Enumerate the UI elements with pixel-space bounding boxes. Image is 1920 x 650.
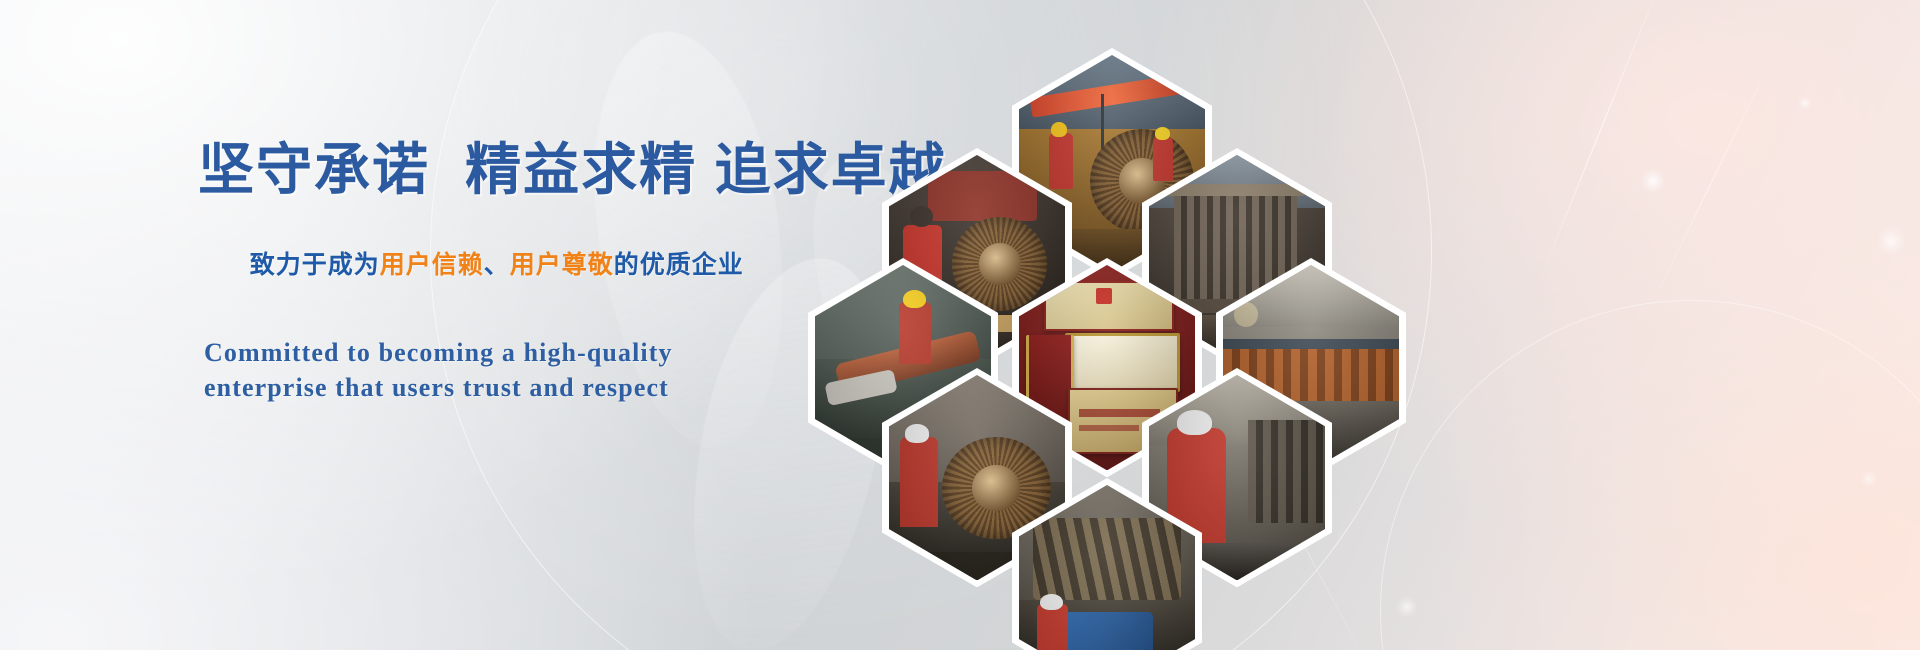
subtitle-segment-separator: 、: [484, 251, 510, 279]
subtitle-segment-1: 致力于成为: [250, 251, 380, 279]
company-culture-banner: 坚守承诺 精益求精 追求卓越 致力于成为用户信赖、用户尊敬的优质企业 Commi…: [0, 0, 1920, 650]
collage-captions: 工人吊装汽轮机转子 红衣工人检修定子 换热器管束 管道焊接作业 荣誉证书与锦旗 …: [0, 0, 1, 1]
hexagon-photo-collage: [960, 40, 1920, 620]
subtitle-segment-highlight-1: 用户信赖: [380, 251, 484, 279]
headline-slogan: 坚守承诺 精益求精 追求卓越: [198, 140, 958, 200]
subtitle-segment-highlight-2: 用户尊敬: [510, 251, 614, 279]
subtitle-segment-2: 的优质企业: [614, 251, 744, 279]
